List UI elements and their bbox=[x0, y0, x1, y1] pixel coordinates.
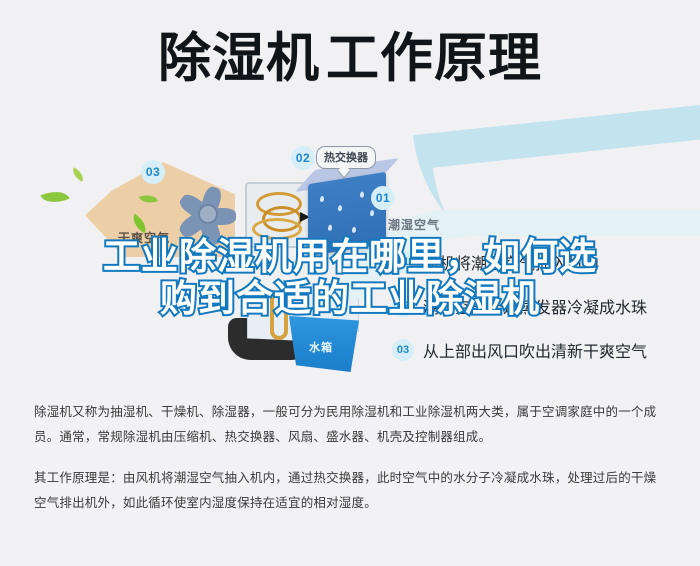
legend-item: 03 从上部出风口吹出清新干爽空气 bbox=[392, 338, 692, 362]
legend-badge: 03 bbox=[392, 339, 414, 361]
overlay-headline: 工业除湿机用在哪里，如何选购到合适的工业除湿机 bbox=[90, 236, 610, 320]
page-title-part2: 工作原理 bbox=[326, 29, 542, 88]
diagram-badge-01: 01 bbox=[371, 186, 395, 210]
leaf-icon bbox=[70, 167, 87, 182]
legend-label: 从上部出风口吹出清新干爽空气 bbox=[423, 338, 647, 362]
diagram-badge-03: 03 bbox=[141, 160, 165, 184]
diagram-badge-02: 02 bbox=[291, 146, 315, 170]
water-tank-label: 水箱 bbox=[309, 339, 333, 355]
heat-exchanger-callout: 热交换器 bbox=[316, 146, 376, 169]
page-title-part1: 除湿机 bbox=[158, 29, 320, 88]
wet-air-label: 潮湿空气 bbox=[388, 216, 440, 233]
leaf-icon bbox=[40, 186, 69, 209]
body-paragraph-2: 其工作原理是：由风机将潮湿空气抽入机内，通过热交换器，此时空气中的水分子冷凝成水… bbox=[34, 466, 666, 516]
hero-banner: 除湿机工作原理 干爽空气 bbox=[0, 0, 700, 400]
fan-hub bbox=[198, 204, 218, 224]
page-root: 除湿机工作原理 干爽空气 bbox=[0, 0, 700, 566]
article-body: 除湿机又称为抽湿机、干燥机、除湿器，一般可分为民用除湿机和工业除湿机两大类，属于… bbox=[0, 400, 700, 532]
body-paragraph-1: 除湿机又称为抽湿机、干燥机、除湿器，一般可分为民用除湿机和工业除湿机两大类，属于… bbox=[34, 400, 666, 450]
page-title: 除湿机工作原理 bbox=[0, 28, 700, 90]
